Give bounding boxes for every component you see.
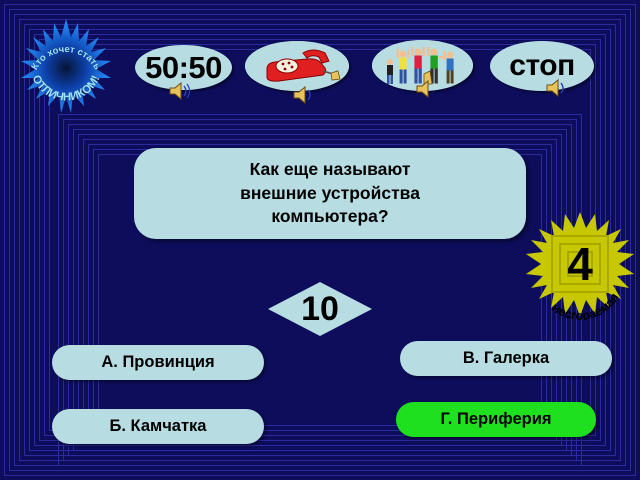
question-text: Как еще называют внешние устройства комп… bbox=[226, 158, 434, 229]
answer-option-v-label: В. Галерка bbox=[463, 349, 549, 368]
guaranteed-level-number: 4 bbox=[567, 238, 593, 290]
answer-option-g-label: Г. Периферия bbox=[441, 410, 552, 429]
frame-line bbox=[34, 34, 606, 446]
answer-option-b[interactable]: Б. Камчатка bbox=[52, 409, 264, 444]
speaker-icon[interactable] bbox=[545, 77, 571, 99]
speaker-icon[interactable] bbox=[415, 78, 441, 100]
answer-option-g[interactable]: Г. Периферия bbox=[396, 402, 596, 437]
speaker-icon[interactable] bbox=[168, 80, 194, 102]
frame-line bbox=[39, 39, 601, 441]
current-level-indicator: 10 bbox=[268, 282, 372, 336]
current-level-number: 10 bbox=[268, 282, 372, 336]
lifeline-fifty-fifty-label: 50:50 bbox=[145, 52, 222, 83]
lifeline-stop[interactable]: стоп bbox=[490, 41, 594, 91]
answer-option-a-label: А. Провинция bbox=[101, 353, 214, 372]
kto-hochet-stat-otlichnikom-logo: Кто хочет стать ОТЛИЧНИКОМ! bbox=[14, 17, 118, 117]
guaranteed-level-badge: 4 несгораемая bbox=[524, 208, 636, 320]
answer-option-a[interactable]: А. Провинция bbox=[52, 345, 264, 380]
answer-option-b-label: Б. Камчатка bbox=[110, 417, 207, 436]
speaker-icon[interactable] bbox=[292, 84, 318, 106]
question-panel: Как еще называют внешние устройства комп… bbox=[134, 148, 526, 239]
quiz-slide: Кто хочет стать ОТЛИЧНИКОМ! 50:50 bbox=[0, 0, 640, 480]
answer-option-v[interactable]: В. Галерка bbox=[400, 341, 612, 376]
